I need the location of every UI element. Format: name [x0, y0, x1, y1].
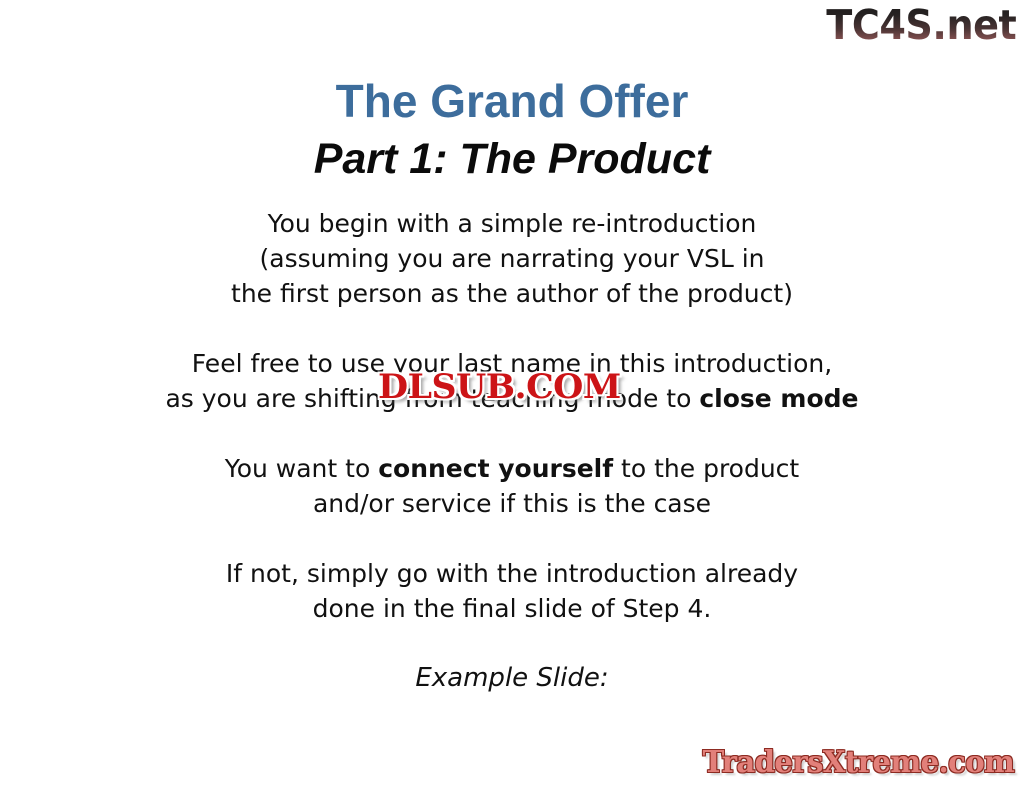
- text-line: done in the final slide of Step 4.: [0, 591, 1024, 626]
- emphasized-text: connect yourself: [378, 454, 613, 483]
- text-line: If not, simply go with the introduction …: [0, 556, 1024, 591]
- plain-text: You begin with a simple re-introduction: [268, 209, 757, 238]
- plain-text: done in the final slide of Step 4.: [313, 594, 712, 623]
- emphasized-text: close mode: [699, 384, 858, 413]
- plain-text: If not, simply go with the introduction …: [226, 559, 798, 588]
- text-line: the first person as the author of the pr…: [0, 276, 1024, 311]
- text-line: You want to connect yourself to the prod…: [0, 451, 1024, 486]
- page-title: The Grand Offer: [0, 74, 1024, 128]
- text-line: (assuming you are narrating your VSL in: [0, 241, 1024, 276]
- paragraph-intro: You begin with a simple re-introduction(…: [0, 206, 1024, 311]
- paragraph-connect-yourself: You want to connect yourself to the prod…: [0, 451, 1024, 521]
- paragraph-if-not: If not, simply go with the introduction …: [0, 556, 1024, 626]
- plain-text: You want to: [225, 454, 378, 483]
- text-line: and/or service if this is the case: [0, 486, 1024, 521]
- page-subtitle: Part 1: The Product: [0, 134, 1024, 184]
- dlsub-com-watermark: DLSUB.COM: [378, 367, 621, 407]
- slide-canvas: TC4S.net The Grand Offer Part 1: The Pro…: [0, 0, 1024, 791]
- slide-body-text: You begin with a simple re-introduction(…: [0, 206, 1024, 696]
- tc4s-net-logo: TC4S.net: [826, 2, 1016, 48]
- plain-text: (assuming you are narrating your VSL in: [260, 244, 765, 273]
- tradersxtreme-com-logo: TradersXtreme.com: [702, 745, 1014, 781]
- plain-text: Example Slide:: [415, 663, 608, 693]
- paragraph-example-slide: Example Slide:: [0, 661, 1024, 696]
- plain-text: the first person as the author of the pr…: [231, 279, 793, 308]
- plain-text: and/or service if this is the case: [313, 489, 711, 518]
- plain-text: to the product: [613, 454, 799, 483]
- text-line: Example Slide:: [0, 661, 1024, 696]
- text-line: You begin with a simple re-introduction: [0, 206, 1024, 241]
